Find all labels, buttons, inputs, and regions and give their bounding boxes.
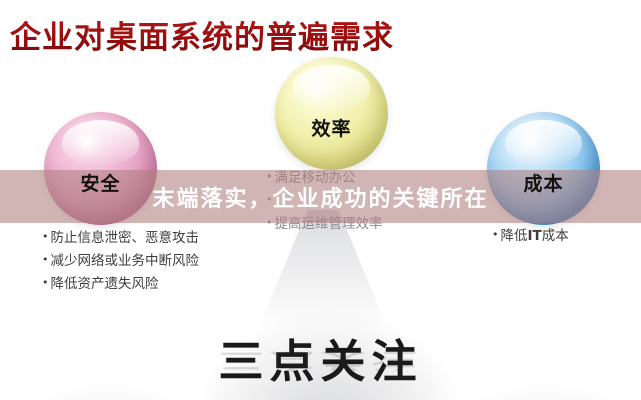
list-item: 降低资产遗失风险 xyxy=(42,272,199,295)
cost-text-suffix: 成本 xyxy=(542,228,569,244)
sphere-label-security: 安全 xyxy=(80,169,120,196)
list-item: 防止信息泄密、恶意攻击 xyxy=(42,226,199,249)
bottom-headline-text: 三点关注 xyxy=(218,335,422,388)
overlay-banner-text: 末端落实，企业成功的关键所在 xyxy=(152,181,488,213)
sphere-efficiency: 效率 xyxy=(275,57,388,170)
list-item: 降低IT成本 xyxy=(492,224,569,247)
cost-text-prefix: 降低 xyxy=(501,228,528,244)
bullet-list-security: 防止信息泄密、恶意攻击 减少网络或业务中断风险 降低资产遗失风险 xyxy=(42,226,199,295)
list-item: 减少网络或业务中断风险 xyxy=(42,249,199,272)
bottom-headline: 三点关注 三点关注 xyxy=(0,325,641,390)
sphere-highlight-icon xyxy=(293,65,370,110)
cost-text-bold: IT xyxy=(528,228,542,244)
sphere-highlight-icon xyxy=(62,120,139,165)
sphere-highlight-icon xyxy=(505,120,582,165)
sphere-label-efficiency: 效率 xyxy=(311,114,351,141)
page-title: 企业对桌面系统的普遍需求 xyxy=(10,12,394,57)
slide-canvas: 企业对桌面系统的普遍需求 安全 防止信息泄密、恶意攻击 减少网络或业务中断风险 … xyxy=(0,0,641,400)
bullet-list-cost: 降低IT成本 xyxy=(492,224,569,247)
sphere-label-cost: 成本 xyxy=(523,169,563,196)
